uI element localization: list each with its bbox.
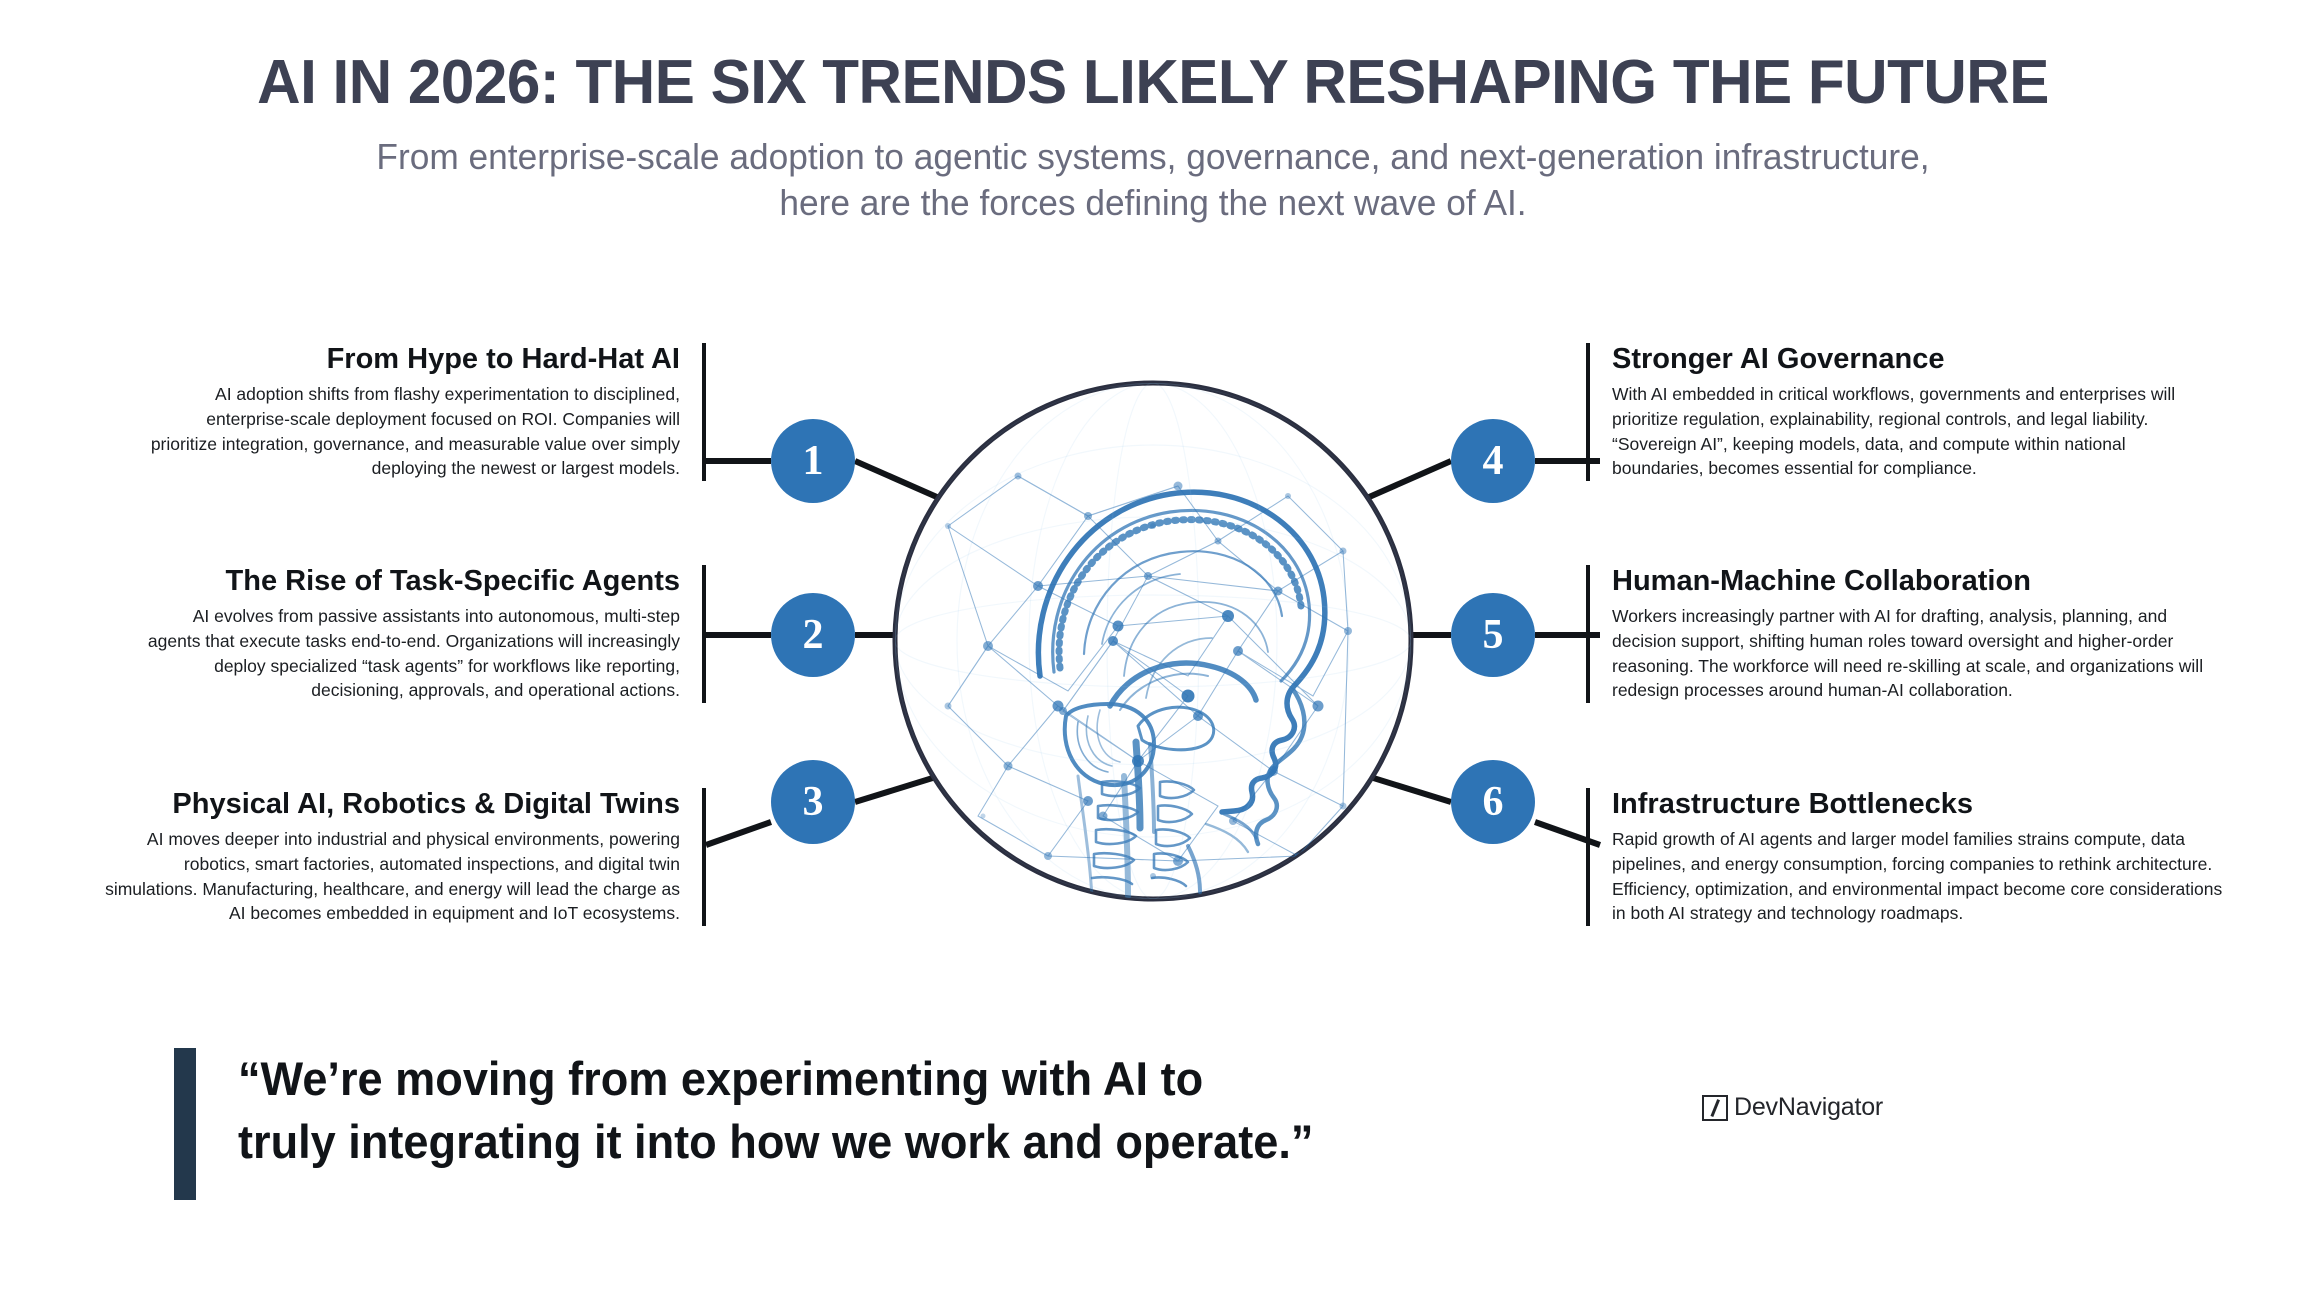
trend-block-5: Human-Machine Collaboration Workers incr… [1586,565,2232,703]
trend-block-4: Stronger AI Governance With AI embedded … [1586,343,2206,481]
quote-text: “We’re moving from experimenting with AI… [238,1048,1313,1200]
trend-block-3: Physical AI, Robotics & Digital Twins AI… [92,788,706,926]
quote-line-1: “We’re moving from experimenting with AI… [238,1048,1313,1111]
trend-title-1: From Hype to Hard-Hat AI [150,343,680,375]
trend-block-6: Infrastructure Bottlenecks Rapid growth … [1586,788,2236,926]
quote-line-2: truly integrating it into how we work an… [238,1111,1313,1174]
trend-body-1: AI adoption shifts from flashy experimen… [150,382,680,481]
trend-body-4: With AI embedded in critical workflows, … [1612,382,2206,481]
ai-brain-network-sphere [888,376,1418,906]
trend-node-6[interactable]: 6 [1451,760,1535,844]
brand-logo: DevNavigator [1702,1093,1883,1122]
subtitle-line-1: From enterprise-scale adoption to agenti… [23,134,2283,180]
pull-quote: “We’re moving from experimenting with AI… [174,1048,1474,1200]
trend-body-6: Rapid growth of AI agents and larger mod… [1612,827,2236,926]
trend-node-1[interactable]: 1 [771,419,855,503]
square-slash-logo-icon [1702,1095,1728,1121]
trend-node-2[interactable]: 2 [771,593,855,677]
header: AI IN 2026: THE SIX TRENDS LIKELY RESHAP… [0,52,2306,226]
quote-accent-bar [174,1048,196,1200]
trend-node-5[interactable]: 5 [1451,593,1535,677]
trend-title-6: Infrastructure Bottlenecks [1612,788,2236,820]
trend-node-4[interactable]: 4 [1451,419,1535,503]
trend-node-3[interactable]: 3 [771,760,855,844]
brand-name: DevNavigator [1734,1093,1883,1122]
page-subtitle: From enterprise-scale adoption to agenti… [23,134,2283,226]
trend-body-2: AI evolves from passive assistants into … [140,604,680,703]
trend-body-5: Workers increasingly partner with AI for… [1612,604,2232,703]
page-title: AI IN 2026: THE SIX TRENDS LIKELY RESHAP… [35,52,2272,114]
trend-body-3: AI moves deeper into industrial and phys… [92,827,680,926]
subtitle-line-2: here are the forces defining the next wa… [23,180,2283,226]
trend-title-3: Physical AI, Robotics & Digital Twins [92,788,680,820]
trend-title-2: The Rise of Task-Specific Agents [140,565,680,597]
trend-title-5: Human-Machine Collaboration [1612,565,2232,597]
infographic-page: AI IN 2026: THE SIX TRENDS LIKELY RESHAP… [0,0,2306,1294]
trend-title-4: Stronger AI Governance [1612,343,2206,375]
trend-block-2: The Rise of Task-Specific Agents AI evol… [140,565,706,703]
trend-block-1: From Hype to Hard-Hat AI AI adoption shi… [150,343,706,481]
